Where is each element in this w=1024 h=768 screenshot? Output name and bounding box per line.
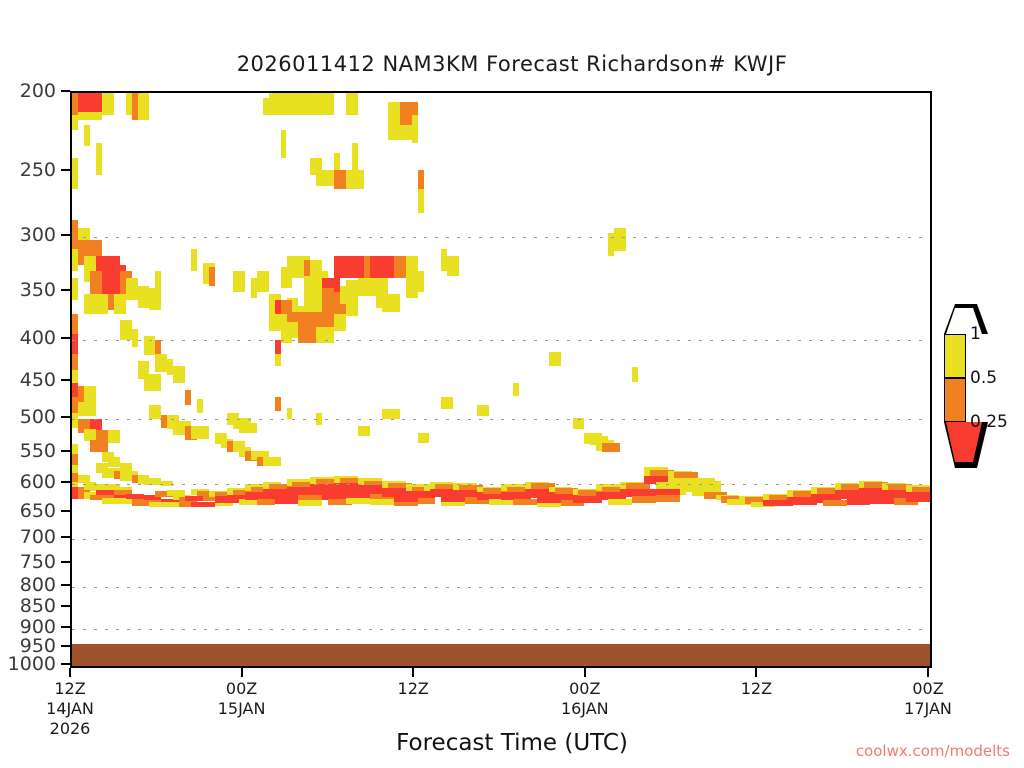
heatmap-cell (275, 397, 281, 410)
heatmap-cell (72, 158, 78, 189)
x-tick (927, 668, 929, 677)
heatmap-cell (132, 329, 138, 347)
heatmap-cell (149, 288, 161, 310)
y-tick (61, 605, 70, 607)
heatmap-cell (632, 367, 638, 382)
y-tick (61, 379, 70, 381)
x-tick-label: 12Z (358, 679, 468, 699)
heatmap-cell (477, 405, 489, 417)
heatmap-cell (304, 294, 322, 314)
heatmap-cell (96, 294, 108, 314)
heatmap-cell (233, 271, 245, 292)
heatmap-cell (352, 143, 358, 170)
heatmap-cell (72, 115, 78, 130)
heatmap-cell (304, 93, 310, 94)
heatmap-cell (358, 426, 370, 436)
heatmap-cell (441, 397, 453, 409)
heatmap-cell (78, 402, 96, 417)
heatmap-cell (418, 189, 424, 213)
heatmap-cell (370, 256, 394, 278)
heatmap-cell (257, 271, 269, 292)
heatmap-cell (346, 498, 370, 504)
y-tick (61, 584, 70, 586)
y-tick-label: 550 (20, 440, 56, 462)
y-tick-label: 200 (20, 80, 56, 102)
colorbar-label: 1 (970, 324, 981, 344)
y-tick-label: 400 (20, 327, 56, 349)
y-tick (61, 337, 70, 339)
heatmap-cell (334, 314, 346, 331)
x-tick-label: 00Z16JAN (530, 679, 640, 719)
heatmap-cell (602, 443, 620, 452)
heatmap-cell (149, 502, 179, 508)
y-tick-label: 250 (20, 159, 56, 181)
heatmap-cell (370, 499, 394, 505)
heatmap-cell (298, 327, 316, 343)
y-tick (61, 536, 70, 538)
heatmap-cell (197, 399, 203, 414)
heatmap-cell (346, 170, 364, 190)
heatmap-cell (334, 170, 346, 190)
heatmap-cell (263, 457, 281, 466)
heatmap-cell (269, 93, 335, 115)
heatmap-cell (447, 256, 459, 276)
heatmap-cell (316, 413, 322, 424)
x-tick (412, 668, 414, 677)
y-tick (61, 450, 70, 452)
heatmap-cell (614, 228, 626, 252)
heatmap-cell (287, 408, 293, 420)
heatmap-cell (513, 499, 537, 505)
heatmap-cell (72, 334, 78, 353)
heatmap-cell (412, 115, 418, 142)
y-tick (61, 663, 70, 665)
heatmap-cell (537, 503, 561, 507)
x-tick-label: 00Z15JAN (187, 679, 297, 719)
plot-area (70, 91, 932, 668)
heatmap-cell (72, 278, 78, 301)
heatmap-cell (608, 499, 632, 505)
heatmap-cell (161, 481, 173, 487)
heatmap-cell (394, 502, 418, 506)
heatmap-cell (281, 130, 287, 158)
y-tick-label: 750 (20, 551, 56, 573)
colorbar-band-yellow (944, 334, 966, 378)
heatmap-cell (149, 405, 161, 420)
heatmap-cell (441, 502, 465, 506)
heatmap-cell (96, 143, 102, 176)
y-tick-label: 850 (20, 595, 56, 617)
y-tick (61, 626, 70, 628)
heatmap-cell (382, 409, 400, 419)
heatmap-cell (906, 492, 932, 501)
x-tick (584, 668, 586, 677)
y-tick-label: 800 (20, 574, 56, 596)
heatmap-cell (138, 286, 150, 308)
y-tick-label: 1000 (8, 653, 56, 675)
heatmap-cell (120, 320, 132, 340)
y-tick-label: 650 (20, 500, 56, 522)
heatmap-cell (90, 440, 108, 452)
heatmap-cell (573, 418, 585, 429)
x-tick (69, 668, 71, 677)
heatmap-cell (275, 354, 281, 366)
heatmap-cell (346, 93, 358, 115)
heatmap-cell (185, 390, 191, 405)
heatmap-cell (394, 256, 406, 278)
y-tick-label: 450 (20, 369, 56, 391)
heatmap-cell (72, 314, 78, 334)
heatmap-cell (191, 249, 197, 271)
heatmap-cell (144, 374, 162, 391)
heatmap-cell (388, 125, 412, 139)
y-tick (61, 510, 70, 512)
heatmap-cell (114, 294, 126, 314)
heatmap-cell (144, 478, 162, 485)
heatmap-cell (84, 294, 96, 314)
heatmap-cell (334, 256, 364, 278)
y-tick (61, 234, 70, 236)
heatmap-cell (358, 278, 370, 297)
y-tick (61, 169, 70, 171)
heatmap-cell (173, 366, 185, 384)
heatmap-cell (155, 354, 167, 372)
y-tick (61, 90, 70, 92)
heatmap-cell (108, 457, 120, 467)
heatmap-cell (287, 322, 299, 338)
y-tick-label: 350 (20, 279, 56, 301)
heatmap-cell (346, 280, 358, 298)
y-tick-label: 300 (20, 224, 56, 246)
heatmap-cell (698, 481, 722, 488)
heatmap-cell (823, 500, 847, 506)
y-tick (61, 645, 70, 647)
heatmap-cell (316, 170, 334, 187)
x-tick (241, 668, 243, 677)
heatmap-cell (102, 93, 114, 115)
heatmap-cell (382, 294, 400, 312)
colorbar-legend: 10.50.25 (940, 300, 1024, 480)
heatmap-cell (513, 383, 519, 395)
y-tick-label: 700 (20, 526, 56, 548)
heatmap-cell (126, 494, 144, 500)
heatmap-cell (144, 336, 156, 355)
heatmap-cell (191, 426, 209, 438)
colorbar-label: 0.5 (970, 368, 997, 388)
heatmap-cells (72, 93, 930, 666)
x-tick (755, 668, 757, 677)
heatmap-cell (239, 423, 257, 433)
heatmap-cell (126, 278, 138, 301)
heatmap-cell (632, 496, 656, 503)
heatmap-cell (418, 498, 436, 504)
heatmap-cell (388, 102, 400, 126)
watermark: coolwx.com/modelts (856, 742, 1010, 760)
y-axis: 2002503003504004505005506006507007508008… (0, 91, 70, 668)
heatmap-cell (78, 112, 102, 120)
x-tick-label: 12Z (701, 679, 811, 699)
heatmap-cell (656, 495, 680, 502)
y-tick-label: 600 (20, 471, 56, 493)
heatmap-cell (418, 433, 430, 442)
chart-title: 2026011412 NAM3KM Forecast Richardson# K… (0, 52, 1024, 76)
colorbar-label: 0.25 (970, 412, 1008, 432)
heatmap-cell (412, 271, 424, 292)
heatmap-cell (72, 492, 78, 499)
heatmap-cell (209, 267, 215, 286)
y-tick-label: 500 (20, 406, 56, 428)
heatmap-cell (90, 271, 102, 294)
heatmap-cell (298, 500, 322, 506)
heatmap-cell (138, 93, 150, 120)
heatmap-cell (191, 502, 215, 508)
y-tick (61, 289, 70, 291)
heatmap-cell (72, 454, 78, 464)
gridline (72, 666, 930, 667)
heatmap-cell (847, 498, 871, 505)
colorbar-band-orange (944, 378, 966, 422)
heatmap-cell (84, 125, 90, 146)
heatmap-cell (257, 499, 275, 505)
terrain-band (72, 644, 930, 666)
heatmap-cell (275, 497, 299, 504)
heatmap-cell (549, 352, 561, 366)
y-tick (61, 561, 70, 563)
heatmap-cell (108, 430, 120, 442)
x-tick-label: 00Z17JAN (873, 679, 983, 719)
heatmap-cell (316, 327, 334, 343)
y-tick (61, 416, 70, 418)
y-tick (61, 481, 70, 483)
